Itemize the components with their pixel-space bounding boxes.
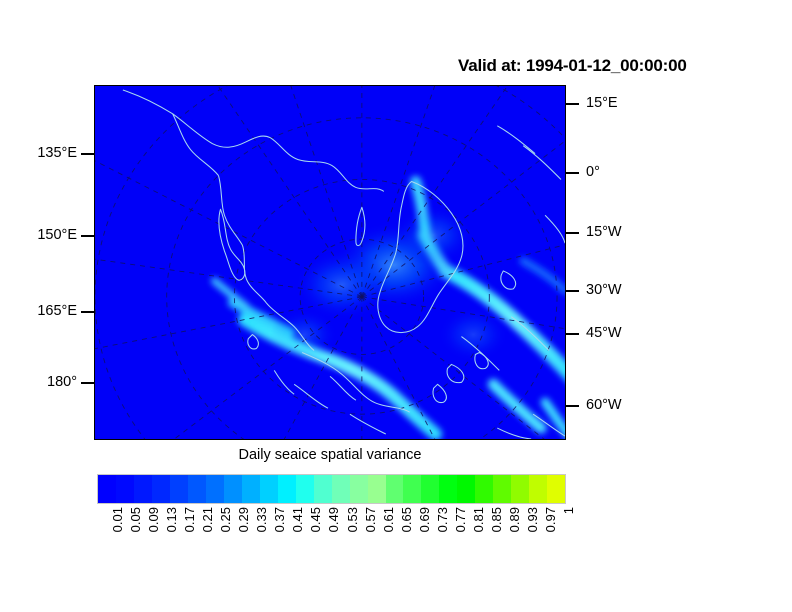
colorbar-band	[421, 475, 439, 503]
right-axis-label: 15°W	[586, 224, 622, 240]
colorbar-band	[368, 475, 386, 503]
colorbar-tick-label: 0.13	[164, 507, 179, 532]
right-tick	[566, 232, 579, 234]
colorbar-tick-label: 0.21	[200, 507, 215, 532]
colorbar-tick-label: 0.89	[507, 507, 522, 532]
colorbar-band	[98, 475, 116, 503]
left-axis-label: 180°	[47, 374, 77, 390]
colorbar-band	[529, 475, 547, 503]
colorbar-band	[493, 475, 511, 503]
colorbar-tick-label: 0.37	[272, 507, 287, 532]
right-tick	[566, 405, 579, 407]
right-tick	[566, 103, 579, 105]
colorbar-band	[457, 475, 475, 503]
left-axis-label: 165°E	[37, 303, 77, 319]
colorbar-tick-label: 0.81	[471, 507, 486, 532]
colorbar-tick-label: 1	[561, 507, 576, 514]
colorbar-band	[350, 475, 368, 503]
colorbar	[97, 474, 566, 504]
left-axis-label: 150°E	[37, 227, 77, 243]
colorbar-band	[314, 475, 332, 503]
map-plot-area	[94, 85, 566, 440]
left-tick	[81, 235, 94, 237]
colorbar-tick-label: 0.57	[363, 507, 378, 532]
colorbar-tick-label: 0.33	[254, 507, 269, 532]
colorbar-tick-label: 0.41	[290, 507, 305, 532]
colorbar-band	[260, 475, 278, 503]
colorbar-tick-label: 0.29	[236, 507, 251, 532]
colorbar-tick-label: 0.77	[453, 507, 468, 532]
colorbar-tick-label: 0.69	[417, 507, 432, 532]
colorbar-tick-label: 0.25	[218, 507, 233, 532]
colorbar-tick-label: 0.17	[182, 507, 197, 532]
colorbar-tick-label: 0.09	[146, 507, 161, 532]
colorbar-tick-label: 0.61	[381, 507, 396, 532]
colorbar-band	[206, 475, 224, 503]
colorbar-band	[224, 475, 242, 503]
colorbar-caption: Daily seaice spatial variance	[94, 447, 566, 463]
colorbar-tick-labels: 0.010.050.090.130.170.210.250.290.330.37…	[97, 507, 566, 567]
right-axis-label: 60°W	[586, 397, 622, 413]
colorbar-band	[170, 475, 188, 503]
colorbar-band	[386, 475, 404, 503]
colorbar-tick-label: 0.85	[489, 507, 504, 532]
colorbar-band	[278, 475, 296, 503]
colorbar-tick-label: 0.65	[399, 507, 414, 532]
colorbar-tick-label: 0.93	[525, 507, 540, 532]
colorbar-band	[511, 475, 529, 503]
page-title: Valid at: 1994-01-12_00:00:00	[458, 56, 687, 76]
left-tick	[81, 311, 94, 313]
colorbar-tick-label: 0.53	[345, 507, 360, 532]
right-axis-label: 45°W	[586, 325, 622, 341]
colorbar-band	[296, 475, 314, 503]
colorbar-band	[547, 475, 565, 503]
colorbar-tick-label: 0.05	[128, 507, 143, 532]
colorbar-band	[439, 475, 457, 503]
colorbar-band	[475, 475, 493, 503]
right-axis-label: 15°E	[586, 95, 618, 111]
map-canvas	[95, 86, 565, 439]
right-tick	[566, 333, 579, 335]
colorbar-band	[403, 475, 421, 503]
left-tick	[81, 382, 94, 384]
colorbar-tick-label: 0.73	[435, 507, 450, 532]
colorbar-tick-label: 0.45	[308, 507, 323, 532]
colorbar-band	[242, 475, 260, 503]
right-tick	[566, 290, 579, 292]
right-axis-label: 30°W	[586, 282, 622, 298]
colorbar-tick-label: 0.49	[326, 507, 341, 532]
colorbar-tick-label: 0.01	[110, 507, 125, 532]
left-axis-label: 135°E	[37, 145, 77, 161]
colorbar-band	[134, 475, 152, 503]
left-tick	[81, 153, 94, 155]
right-tick	[566, 172, 579, 174]
colorbar-band	[152, 475, 170, 503]
colorbar-band	[116, 475, 134, 503]
colorbar-gradient	[97, 474, 566, 504]
colorbar-tick-label: 0.97	[543, 507, 558, 532]
right-axis-label: 0°	[586, 164, 600, 180]
colorbar-band	[188, 475, 206, 503]
colorbar-band	[332, 475, 350, 503]
